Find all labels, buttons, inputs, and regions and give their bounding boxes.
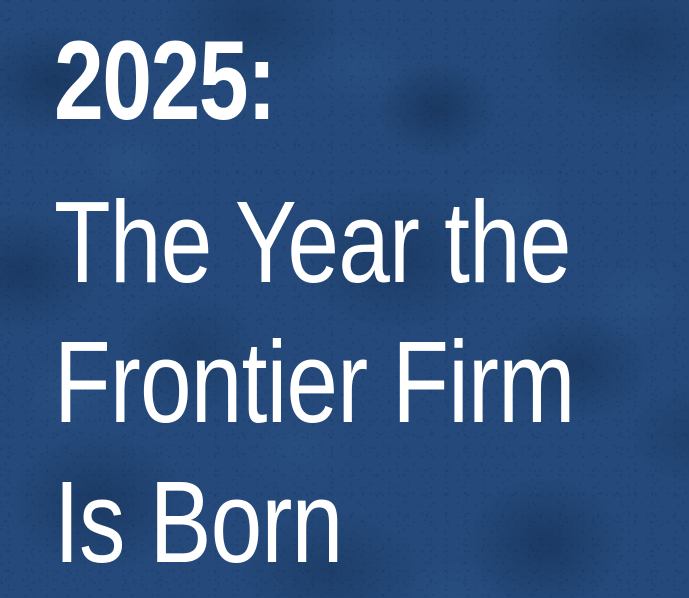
cover-title-line-2: Frontier Firm <box>54 312 566 452</box>
cover-headline-block: 2025: The Year the Frontier Firm Is Born <box>54 18 689 592</box>
cover-eyebrow-year: 2025: <box>54 18 566 144</box>
cover-title-line-1: The Year the <box>54 172 566 312</box>
cover-title-line-3: Is Born <box>54 452 566 592</box>
report-cover-slide: 2025: The Year the Frontier Firm Is Born <box>0 0 689 598</box>
